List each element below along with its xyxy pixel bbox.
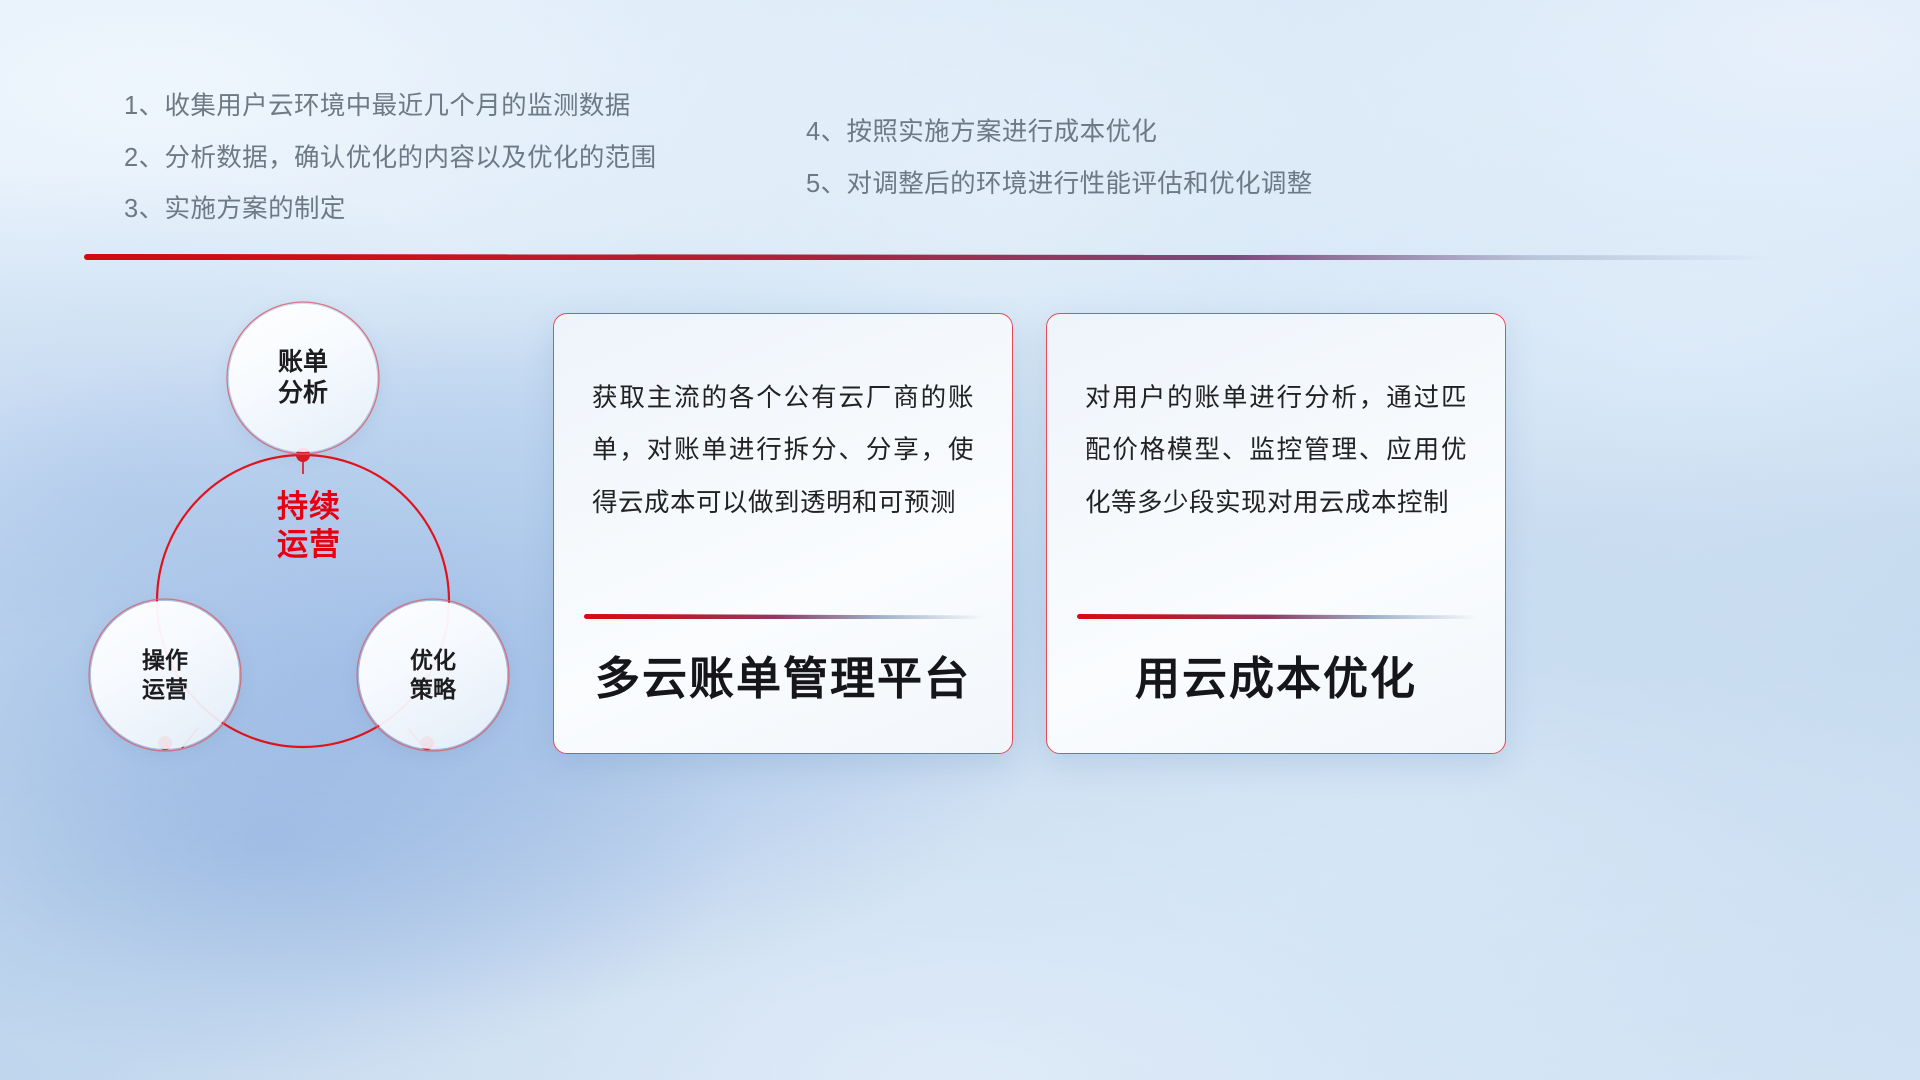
card-cloud-cost-optimization[interactable]: 对用户的账单进行分析，通过匹配价格模型、监控管理、应用优化等多少段实现对用云成本… xyxy=(1046,313,1506,754)
card-body-text: 获取主流的各个公有云厂商的账单，对账单进行拆分、分享，使得云成本可以做到透明和可… xyxy=(592,372,974,529)
diagram-node-operation-ops[interactable]: 操作 运营 xyxy=(91,601,239,749)
card-title: 用云成本优化 xyxy=(1047,642,1505,707)
step-item-5: 5、对调整后的环境进行性能评估和优化调整 xyxy=(806,172,1313,198)
step-item-1: 1、收集用户云环境中最近几个月的监测数据 xyxy=(124,94,657,120)
center-label-line2: 运营 xyxy=(259,526,359,564)
node-label-line2: 分析 xyxy=(278,378,328,410)
card-body-text: 对用户的账单进行分析，通过匹配价格模型、监控管理、应用优化等多少段实现对用云成本… xyxy=(1085,372,1467,529)
node-label-line2: 运营 xyxy=(142,675,188,704)
card-accent-rule xyxy=(584,614,984,619)
node-label-line2: 策略 xyxy=(410,675,456,704)
step-item-2: 2、分析数据，确认优化的内容以及优化的范围 xyxy=(124,146,657,172)
continuous-operation-diagram: 账单 分析 操作 运营 优化 策略 持续 运营 xyxy=(70,288,540,778)
card-multi-cloud-billing[interactable]: 获取主流的各个公有云厂商的账单，对账单进行拆分、分享，使得云成本可以做到透明和可… xyxy=(553,313,1013,754)
section-divider xyxy=(84,254,1774,262)
diagram-node-optimize-strategy[interactable]: 优化 策略 xyxy=(359,601,507,749)
node-label-line1: 优化 xyxy=(410,646,456,675)
card-title: 多云账单管理平台 xyxy=(554,642,1012,707)
steps-right-column: 4、按照实施方案进行成本优化 5、对调整后的环境进行性能评估和优化调整 xyxy=(806,120,1313,223)
diagram-node-bill-analysis[interactable]: 账单 分析 xyxy=(229,304,377,452)
node-label-line1: 账单 xyxy=(278,347,328,379)
center-label-line1: 持续 xyxy=(259,488,359,526)
step-item-3: 3、实施方案的制定 xyxy=(124,197,657,223)
card-accent-rule xyxy=(1077,614,1477,619)
process-steps-region: 1、收集用户云环境中最近几个月的监测数据 2、分析数据，确认优化的内容以及优化的… xyxy=(0,0,1920,250)
divider-gradient-bar xyxy=(84,254,1774,260)
diagram-center-label: 持续 运营 xyxy=(259,488,359,564)
steps-left-column: 1、收集用户云环境中最近几个月的监测数据 2、分析数据，确认优化的内容以及优化的… xyxy=(124,94,657,249)
step-item-4: 4、按照实施方案进行成本优化 xyxy=(806,120,1313,146)
node-label-line1: 操作 xyxy=(142,646,188,675)
